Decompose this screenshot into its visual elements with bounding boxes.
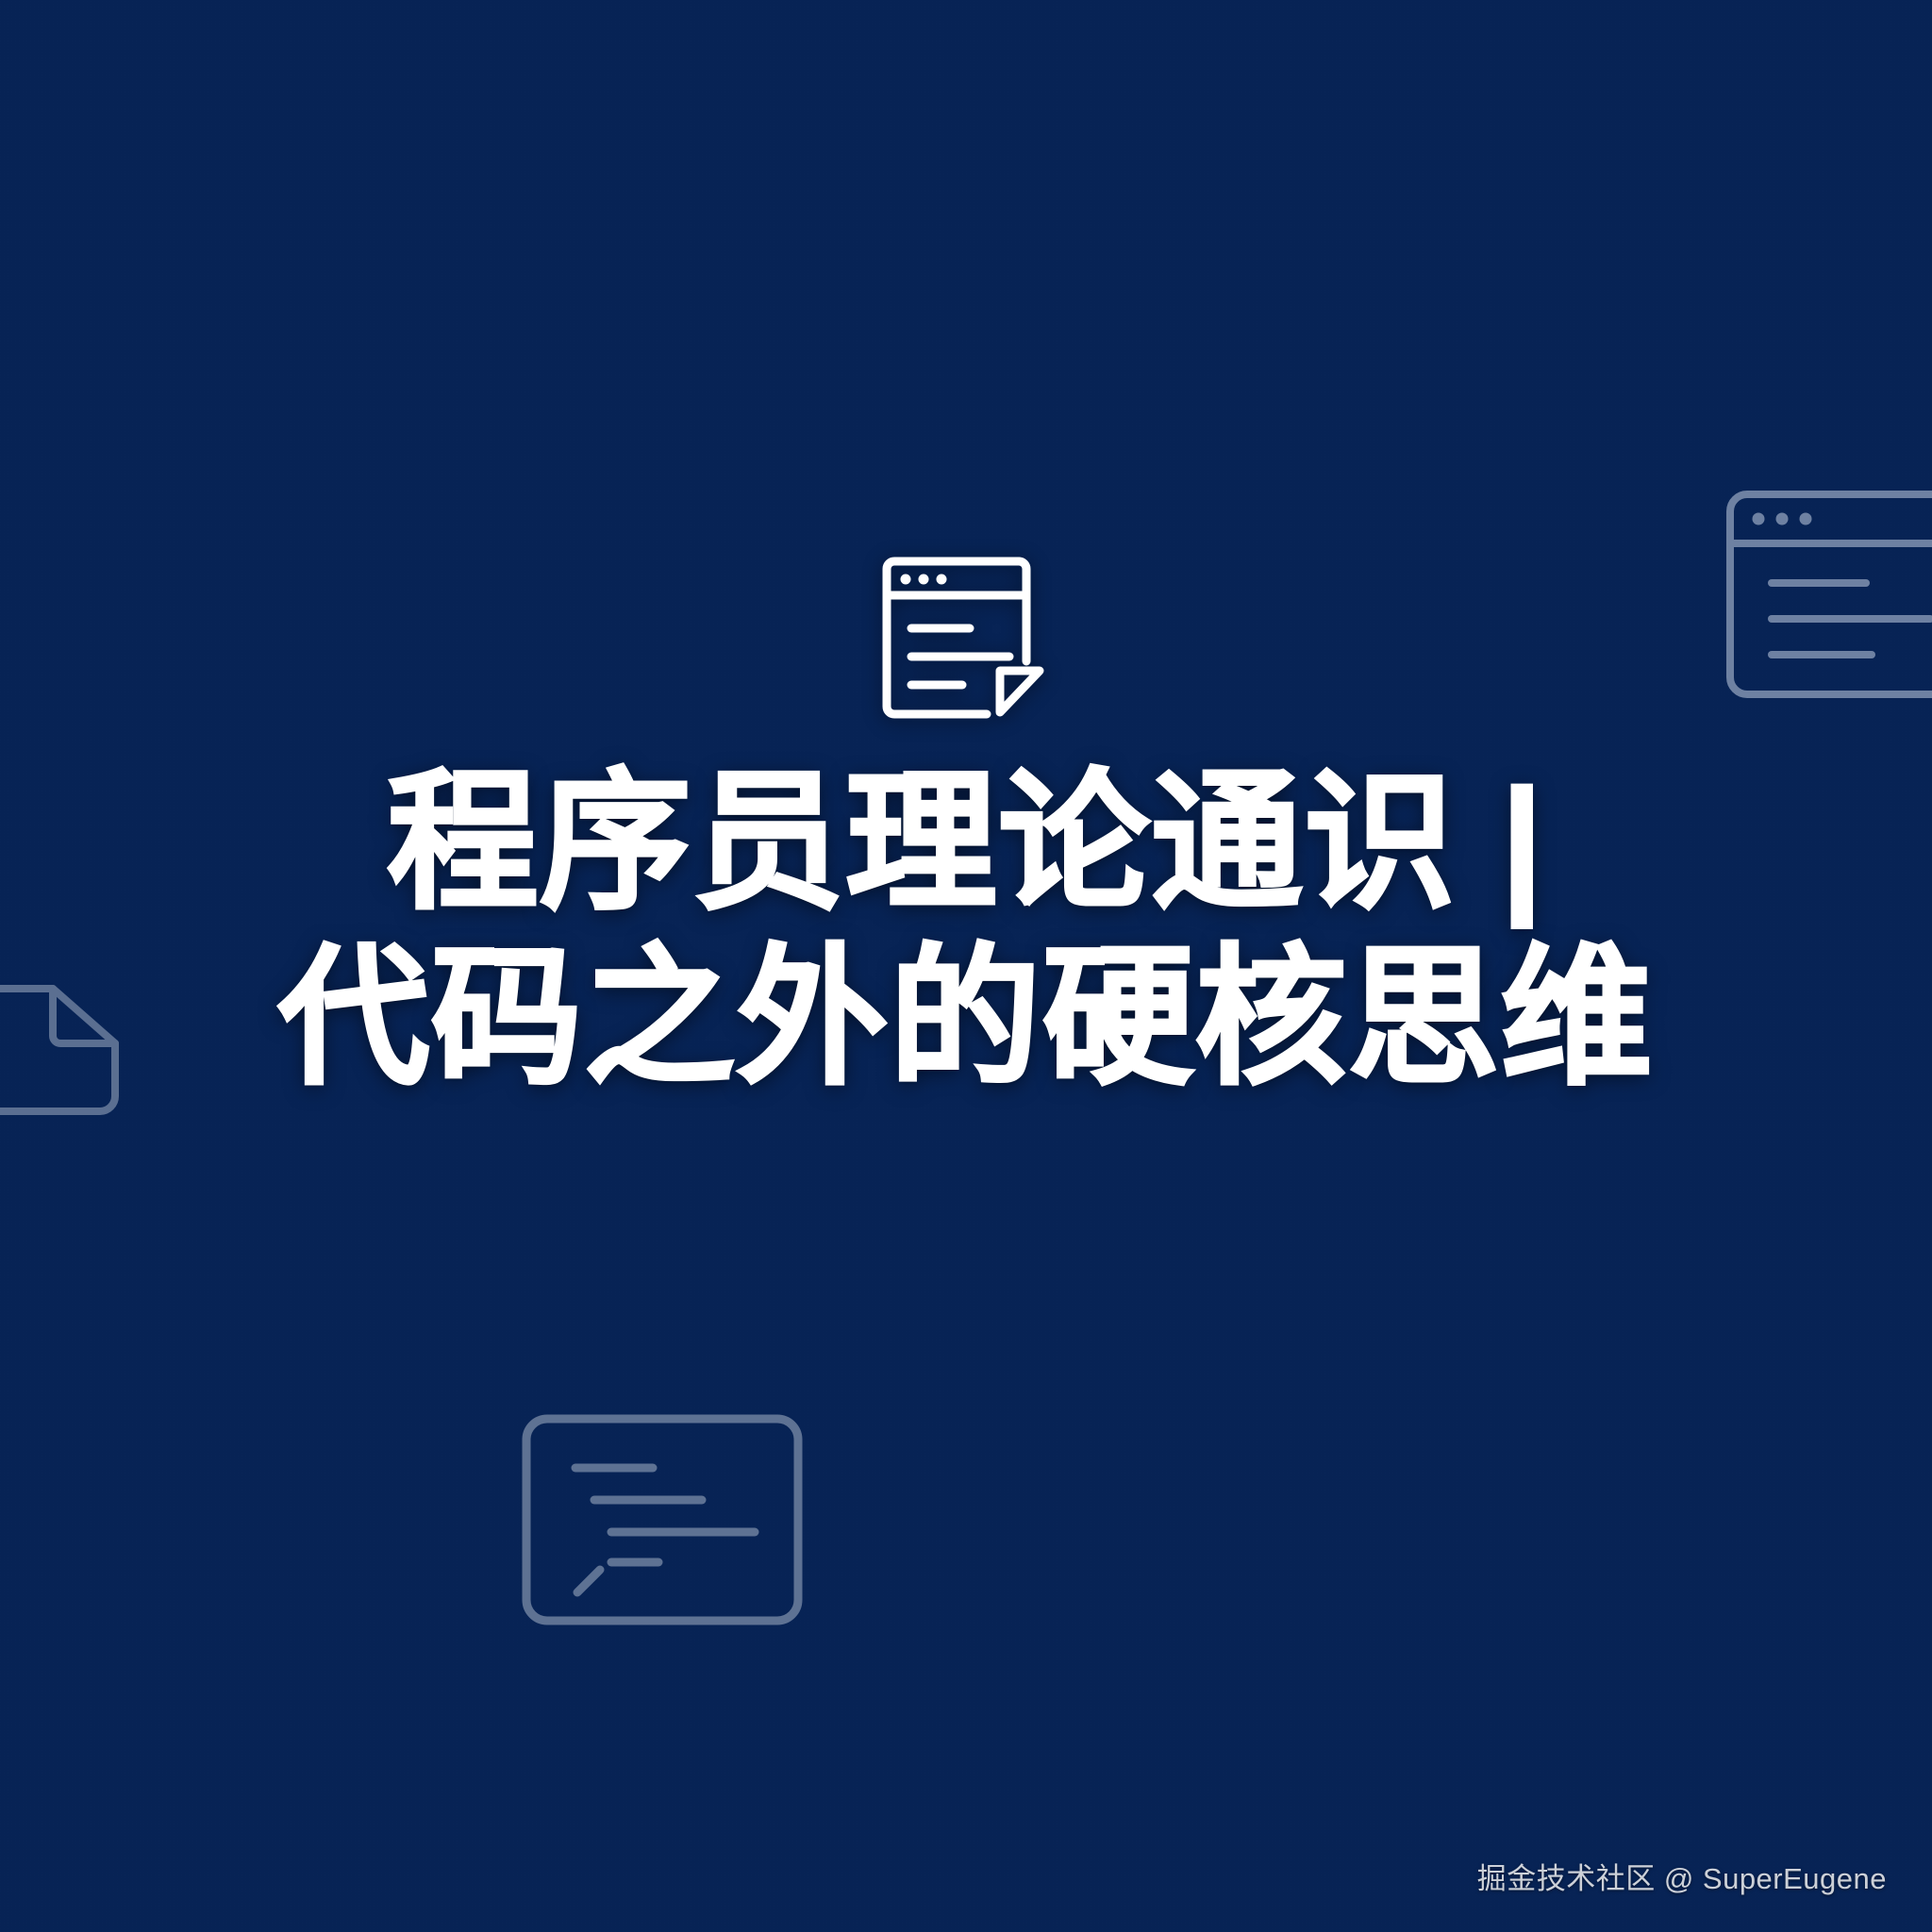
title-line-2: 代码之外的硬核思维 xyxy=(0,930,1932,1106)
poster-canvas: 程序员理论通识 | 代码之外的硬核思维 掘金技术社区 @ SuperEugene xyxy=(0,0,1932,1932)
browser-window-icon xyxy=(1724,489,1932,700)
watermark-credit: 掘金技术社区 @ SuperEugene xyxy=(1477,1860,1887,1898)
page-title: 程序员理论通识 | 代码之外的硬核思维 xyxy=(0,755,1932,1106)
title-line-1: 程序员理论通识 | xyxy=(0,755,1932,930)
code-editor-icon xyxy=(521,1413,804,1626)
code-window-document-icon xyxy=(877,552,1058,727)
